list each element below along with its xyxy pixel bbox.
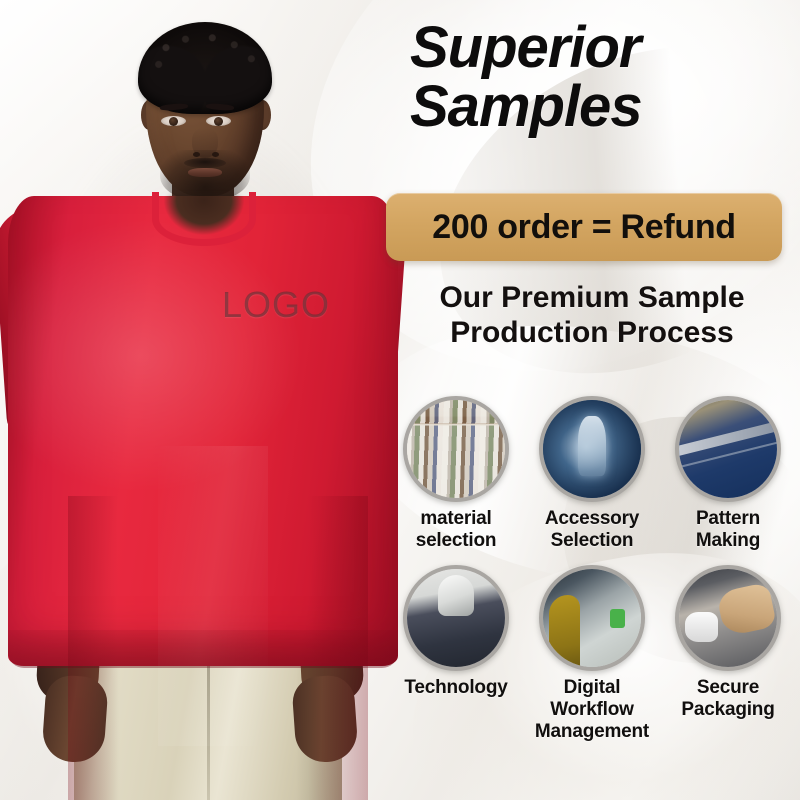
process-step-thumbnail[interactable] bbox=[539, 565, 645, 671]
process-step-label: Pattern Making bbox=[696, 508, 760, 551]
process-step-label-line2: Making bbox=[696, 530, 760, 552]
process-step-digital-workflow-management[interactable]: Digital Workflow Management bbox=[524, 565, 660, 742]
section-subtitle: Our Premium Sample Production Process bbox=[392, 280, 792, 351]
process-steps-row-2: Technology Digital Workflow Management bbox=[388, 565, 796, 742]
tshirt-hem bbox=[8, 630, 398, 668]
tshirt-collar-opening bbox=[158, 196, 250, 240]
sewing-machine-photo bbox=[407, 569, 505, 667]
process-step-label-line2: Selection bbox=[545, 530, 639, 552]
gloved-hands-packing-photo bbox=[679, 569, 777, 667]
process-step-accessory-selection[interactable]: Accessory Selection bbox=[524, 396, 660, 551]
process-step-thumbnail[interactable] bbox=[403, 565, 509, 671]
process-step-pattern-making[interactable]: Pattern Making bbox=[660, 396, 796, 551]
green-tshirt-icon bbox=[610, 609, 626, 629]
process-step-label: Technology bbox=[404, 677, 507, 699]
process-step-label-line1: Pattern bbox=[696, 508, 760, 529]
white-glove-shape bbox=[685, 612, 718, 641]
pattern-cutting-photo bbox=[679, 400, 777, 498]
model-mustache bbox=[184, 158, 226, 168]
model-eye-right bbox=[206, 116, 231, 126]
model-mouth bbox=[188, 168, 222, 177]
process-step-label-line1: Accessory bbox=[545, 508, 639, 529]
process-step-label-line2: Workflow bbox=[535, 699, 649, 721]
process-step-label-line2: Packaging bbox=[681, 699, 774, 721]
process-step-label-line2: selection bbox=[416, 530, 497, 552]
model-eye-left bbox=[161, 116, 186, 126]
garment-rack-blue-light-photo bbox=[543, 400, 641, 498]
process-step-label-line3: Management bbox=[535, 721, 649, 743]
fabric-roll-shelves-photo bbox=[407, 400, 505, 498]
section-subtitle-line1: Our Premium Sample bbox=[439, 281, 744, 314]
process-step-label: Digital Workflow Management bbox=[535, 677, 649, 742]
process-step-technology[interactable]: Technology bbox=[388, 565, 524, 742]
promo-banner-text: 200 order = Refund bbox=[432, 208, 736, 247]
process-step-thumbnail[interactable] bbox=[403, 396, 509, 502]
process-step-material-selection[interactable]: material selection bbox=[388, 396, 524, 551]
process-step-label: Secure Packaging bbox=[681, 677, 774, 720]
process-step-label-line1: material bbox=[420, 508, 491, 529]
page-title: Superior Samples bbox=[410, 18, 750, 136]
process-step-thumbnail[interactable] bbox=[675, 565, 781, 671]
process-step-label-line1: Digital bbox=[564, 677, 621, 698]
process-steps-row-1: material selection Accessory Selection bbox=[388, 396, 796, 551]
page-title-line1: Superior bbox=[410, 15, 641, 80]
model-hair bbox=[138, 22, 272, 114]
process-step-thumbnail[interactable] bbox=[539, 396, 645, 502]
process-step-thumbnail[interactable] bbox=[675, 396, 781, 502]
model-photo: LOGO bbox=[0, 0, 400, 800]
process-step-label: Accessory Selection bbox=[545, 508, 639, 551]
page-title-line2: Samples bbox=[410, 77, 750, 136]
process-step-label: material selection bbox=[416, 508, 497, 551]
tshirt-body bbox=[8, 196, 398, 666]
process-step-label-line1: Secure bbox=[697, 677, 759, 698]
workstation-operator-photo bbox=[543, 569, 641, 667]
process-step-label-line1: Technology bbox=[404, 677, 507, 698]
tshirt-fold-center bbox=[158, 446, 268, 746]
process-steps-grid: material selection Accessory Selection bbox=[388, 396, 796, 742]
tshirt-logo-print: LOGO bbox=[222, 284, 330, 326]
product-poster: LOGO Superior Samples 200 order = Refund… bbox=[0, 0, 800, 800]
process-step-secure-packaging[interactable]: Secure Packaging bbox=[660, 565, 796, 742]
promo-banner[interactable]: 200 order = Refund bbox=[386, 193, 782, 261]
section-subtitle-line2: Production Process bbox=[392, 315, 792, 350]
